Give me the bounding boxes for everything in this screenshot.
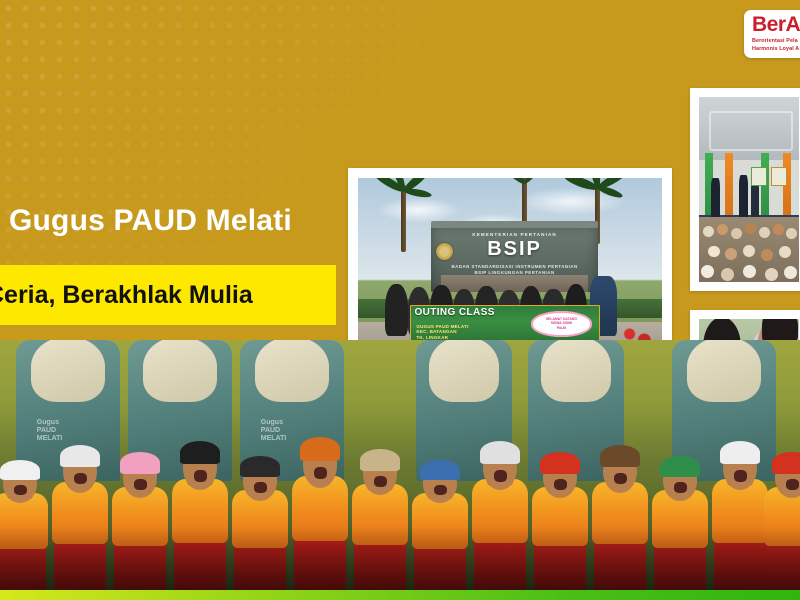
standing-person-left (711, 178, 720, 219)
photo-community-hall-image (699, 97, 799, 282)
banner-subtitle: GUGUS PAUD MELATI KEC. BATANGAN TK. LING… (416, 324, 468, 341)
seated-audience (699, 217, 799, 282)
photo-bsip-monument-image: KEMENTERIAN PERTANIAN BSIP BADAN STANDAR… (358, 178, 662, 362)
hijab (143, 340, 218, 402)
logo-tagline-line2: Harmonis Loyal A (752, 46, 799, 53)
standing-person-center (739, 175, 748, 219)
wall-poster-2 (771, 167, 787, 186)
monument-cap (431, 221, 598, 228)
hijab (255, 340, 330, 402)
hijab (541, 340, 610, 402)
tagline-text: Ceria, Berakhlak Mulia (0, 280, 253, 310)
banner-cloud-callout: SELAMAT DATANG SISWA SISWI PAUD (531, 311, 591, 336)
standing-person-right (751, 180, 759, 219)
hijab (31, 340, 106, 402)
ministry-seal-icon (436, 243, 453, 260)
banner-cloud-text: SELAMAT DATANG SISWA SISWI PAUD (536, 317, 587, 330)
photo-community-hall (690, 88, 800, 291)
photo-children-row: Gugus PAUD MELATI Gugus PAUD MELATI (0, 340, 800, 592)
tagline-banner: Ceria, Berakhlak Mulia (0, 265, 336, 325)
wall-poster-1 (751, 167, 767, 186)
bottom-shadow-overlay (0, 526, 800, 592)
bottom-green-strip (0, 590, 800, 600)
monument-acronym-text: BSIP (441, 239, 588, 260)
page-title: Gugus PAUD Melati (9, 203, 369, 239)
monument-ministry-text: KEMENTERIAN PERTANIAN (441, 232, 588, 237)
hall-ceiling (699, 97, 799, 160)
logo-tagline-line1: Berorientasi Pela (752, 38, 798, 45)
logo-wordmark: BerA (752, 13, 800, 37)
hijab (687, 340, 762, 402)
banner-title: OUTING CLASS (414, 307, 494, 318)
slide-canvas: Gugus PAUD Melati Ceria, Berakhlak Mulia (0, 0, 800, 600)
berakhlak-logo: BerA Berorientasi Pela Harmonis Loyal A (744, 10, 800, 58)
hijab (429, 340, 498, 402)
